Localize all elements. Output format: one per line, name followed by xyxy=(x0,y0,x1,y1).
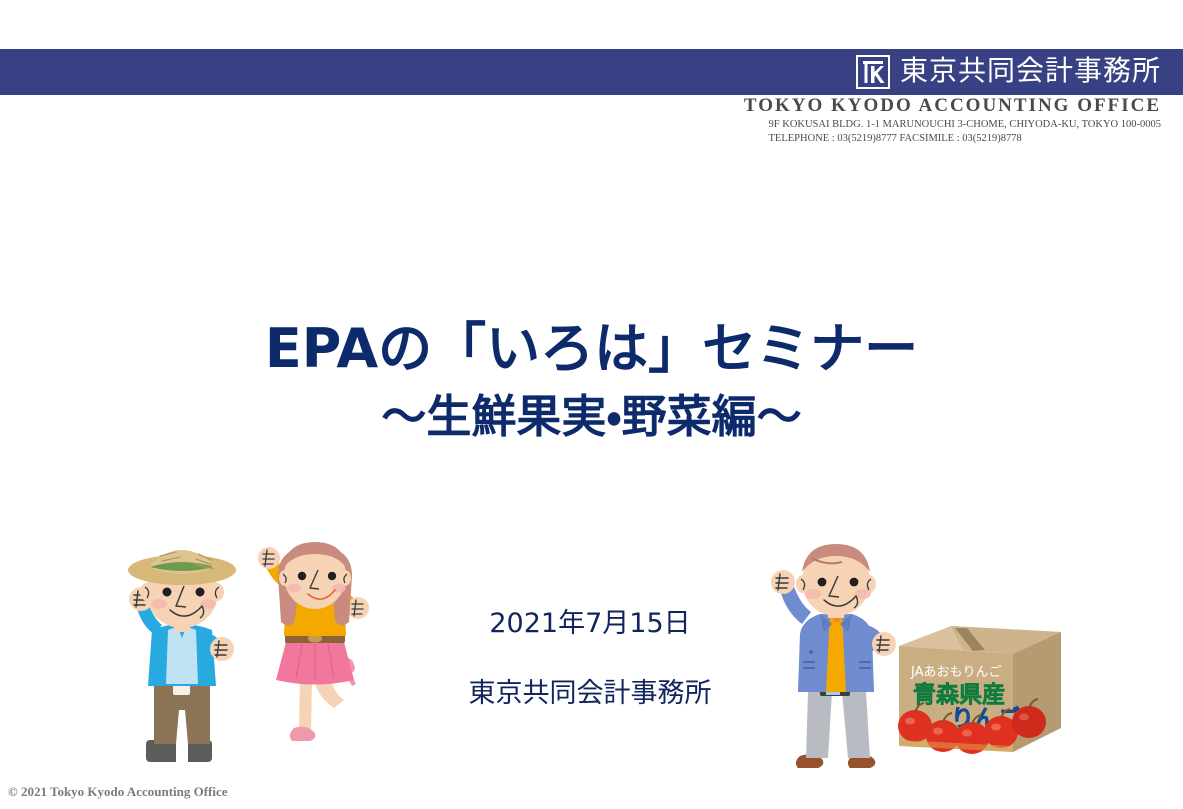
box-label-top: JAあおもりんご xyxy=(910,664,1002,680)
presentation-date: 2021年7月15日 xyxy=(340,608,840,640)
presentation-meta: 2021年7月15日 東京共同会計事務所 xyxy=(340,608,840,711)
woman-figure xyxy=(258,542,369,741)
company-address: 9F KOKUSAI BLDG. 1-1 MARUNOUCHI 3-CHOME,… xyxy=(769,118,1161,146)
company-name-jp: 東京共同会計事務所 xyxy=(900,58,1161,86)
company-logo-lockup: 東京共同会計事務所 xyxy=(856,49,1161,95)
apple-carton-illustration: JAあおもりんご 青森県産 りんご xyxy=(893,624,1065,760)
title-block: EPAの「いろは」セミナー ～生鮮果実・野菜編～ xyxy=(0,318,1183,444)
slide-canvas: 東京共同会計事務所 TOKYO KYODO ACCOUNTING OFFICE … xyxy=(0,0,1183,809)
box-label-mid: 青森県産 xyxy=(913,681,1005,708)
footer-copyright: © 2021 Tokyo Kyodo Accounting Office xyxy=(8,784,228,800)
address-line-1: 9F KOKUSAI BLDG. 1-1 MARUNOUCHI 3-CHOME,… xyxy=(769,118,1161,132)
page-subtitle: ～生鮮果実・野菜編～ xyxy=(0,390,1183,444)
address-line-2: TELEPHONE : 03(5219)8777 FACSIMILE : 03(… xyxy=(769,132,1161,146)
page-title: EPAの「いろは」セミナー xyxy=(0,318,1183,380)
farmer-man-figure xyxy=(128,550,236,762)
presentation-organization: 東京共同会計事務所 xyxy=(340,678,840,710)
company-name-en: TOKYO KYODO ACCOUNTING OFFICE xyxy=(744,96,1161,116)
man-cheering-illustration xyxy=(778,552,898,780)
tk-monogram-icon xyxy=(856,55,890,89)
farmer-and-woman-illustration xyxy=(112,534,380,780)
